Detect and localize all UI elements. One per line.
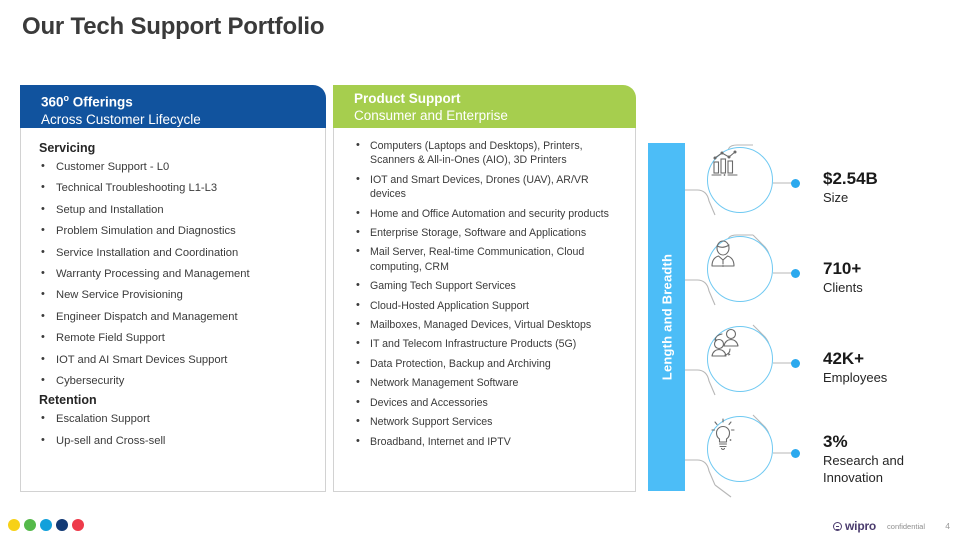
offerings-suffix-text: Offerings	[69, 95, 133, 110]
list-item: Cybersecurity	[32, 372, 315, 390]
footer-brand-dots	[8, 519, 84, 531]
list-retention: Escalation Support Up-sell and Cross-sel…	[32, 410, 315, 450]
stat-node-dot-research	[791, 449, 800, 458]
list-item: Up-sell and Cross-sell	[32, 432, 315, 450]
bar-chart-icon	[708, 148, 742, 180]
list-item: IT and Telecom Infrastructure Products (…	[345, 337, 625, 351]
stat-text-clients: 710+ Clients	[823, 258, 863, 296]
stats-chain: $2.54B Size 710+ Clients	[685, 135, 960, 500]
panel-header-offerings: 360o Offerings Across Customer Lifecycle	[20, 85, 326, 128]
page-title: Our Tech Support Portfolio	[22, 13, 324, 41]
panel-header-product-support: Product Support Consumer and Enterprise	[333, 85, 636, 128]
group-title-retention: Retention	[39, 393, 315, 407]
list-item: IOT and Smart Devices, Drones (UAV), AR/…	[345, 173, 625, 202]
list-item: IOT and AI Smart Devices Support	[32, 351, 315, 369]
list-item: Gaming Tech Support Services	[345, 279, 625, 293]
list-item: Cloud-Hosted Application Support	[345, 299, 625, 313]
panel-header-offerings-line2: Across Customer Lifecycle	[41, 111, 326, 128]
stat-label: Employees	[823, 369, 887, 386]
stat-text-research: 3% Research and Innovation	[823, 431, 960, 486]
list-item: Home and Office Automation and security …	[345, 207, 625, 221]
list-item: Computers (Laptops and Desktops), Printe…	[345, 139, 625, 168]
list-item: Problem Simulation and Diagnostics	[32, 222, 315, 240]
confidential-label: confidential	[887, 522, 925, 531]
group-title-servicing: Servicing	[39, 141, 315, 155]
list-item: Network Management Software	[345, 376, 625, 390]
panel-header-product-line1: Product Support	[354, 90, 636, 107]
list-item: Devices and Accessories	[345, 396, 625, 410]
stat-value: 42K+	[823, 348, 887, 369]
stat-circle-size[interactable]	[707, 147, 773, 213]
list-item: Network Support Services	[345, 415, 625, 429]
stat-node-dot-employees	[791, 359, 800, 368]
panel-header-offerings-line1: 360o Offerings	[41, 90, 326, 111]
panel-header-product-line2: Consumer and Enterprise	[354, 107, 636, 124]
stat-value: 710+	[823, 258, 863, 279]
team-icon	[708, 327, 744, 359]
stat-text-size: $2.54B Size	[823, 168, 878, 206]
list-product-support: Computers (Laptops and Desktops), Printe…	[345, 139, 625, 449]
length-and-breadth-bar: Length and Breadth	[648, 143, 685, 491]
stat-circle-employees[interactable]	[707, 326, 773, 392]
list-item: Service Installation and Coordination	[32, 244, 315, 262]
brand-dot-red	[72, 519, 84, 531]
lightbulb-icon	[708, 417, 738, 451]
stat-value: $2.54B	[823, 168, 878, 189]
list-item: Enterprise Storage, Software and Applica…	[345, 226, 625, 240]
stat-text-employees: 42K+ Employees	[823, 348, 887, 386]
list-item: New Service Provisioning	[32, 286, 315, 304]
list-item: Setup and Installation	[32, 201, 315, 219]
list-item: Broadband, Internet and IPTV	[345, 435, 625, 449]
stat-label: Research and Innovation	[823, 452, 960, 486]
brand-dot-green	[24, 519, 36, 531]
wipro-logo: wipro	[833, 519, 876, 533]
stat-circle-clients[interactable]	[707, 236, 773, 302]
stat-node-dot-size	[791, 179, 800, 188]
list-item: Technical Troubleshooting L1-L3	[32, 179, 315, 197]
stat-value: 3%	[823, 431, 960, 452]
slide-canvas: Our Tech Support Portfolio 360o Offering…	[0, 0, 960, 540]
list-item: Remote Field Support	[32, 329, 315, 347]
list-item: Mailboxes, Managed Devices, Virtual Desk…	[345, 318, 625, 332]
stat-label: Clients	[823, 279, 863, 296]
list-item: Data Protection, Backup and Archiving	[345, 357, 625, 371]
list-item: Mail Server, Real-time Communication, Cl…	[345, 245, 625, 274]
brand-dot-blue	[40, 519, 52, 531]
panel-body-product-support: Computers (Laptops and Desktops), Printe…	[333, 128, 636, 492]
wipro-emblem-icon	[833, 522, 842, 531]
list-item: Warranty Processing and Management	[32, 265, 315, 283]
stat-label: Size	[823, 189, 878, 206]
wipro-wordmark: wipro	[845, 519, 876, 533]
panel-body-offerings: Servicing Customer Support - L0 Technica…	[20, 128, 326, 492]
stat-circle-research[interactable]	[707, 416, 773, 482]
length-and-breadth-label: Length and Breadth	[659, 254, 674, 380]
list-item: Escalation Support	[32, 410, 315, 428]
list-item: Engineer Dispatch and Management	[32, 308, 315, 326]
person-icon	[708, 237, 738, 269]
list-servicing: Customer Support - L0 Technical Troubles…	[32, 158, 315, 390]
brand-dot-yellow	[8, 519, 20, 531]
brand-dot-navy	[56, 519, 68, 531]
footer-right: wipro confidential 4	[833, 519, 950, 533]
offerings-360-text: 360	[41, 95, 64, 110]
list-item: Customer Support - L0	[32, 158, 315, 176]
page-number: 4	[936, 521, 950, 531]
stat-node-dot-clients	[791, 269, 800, 278]
